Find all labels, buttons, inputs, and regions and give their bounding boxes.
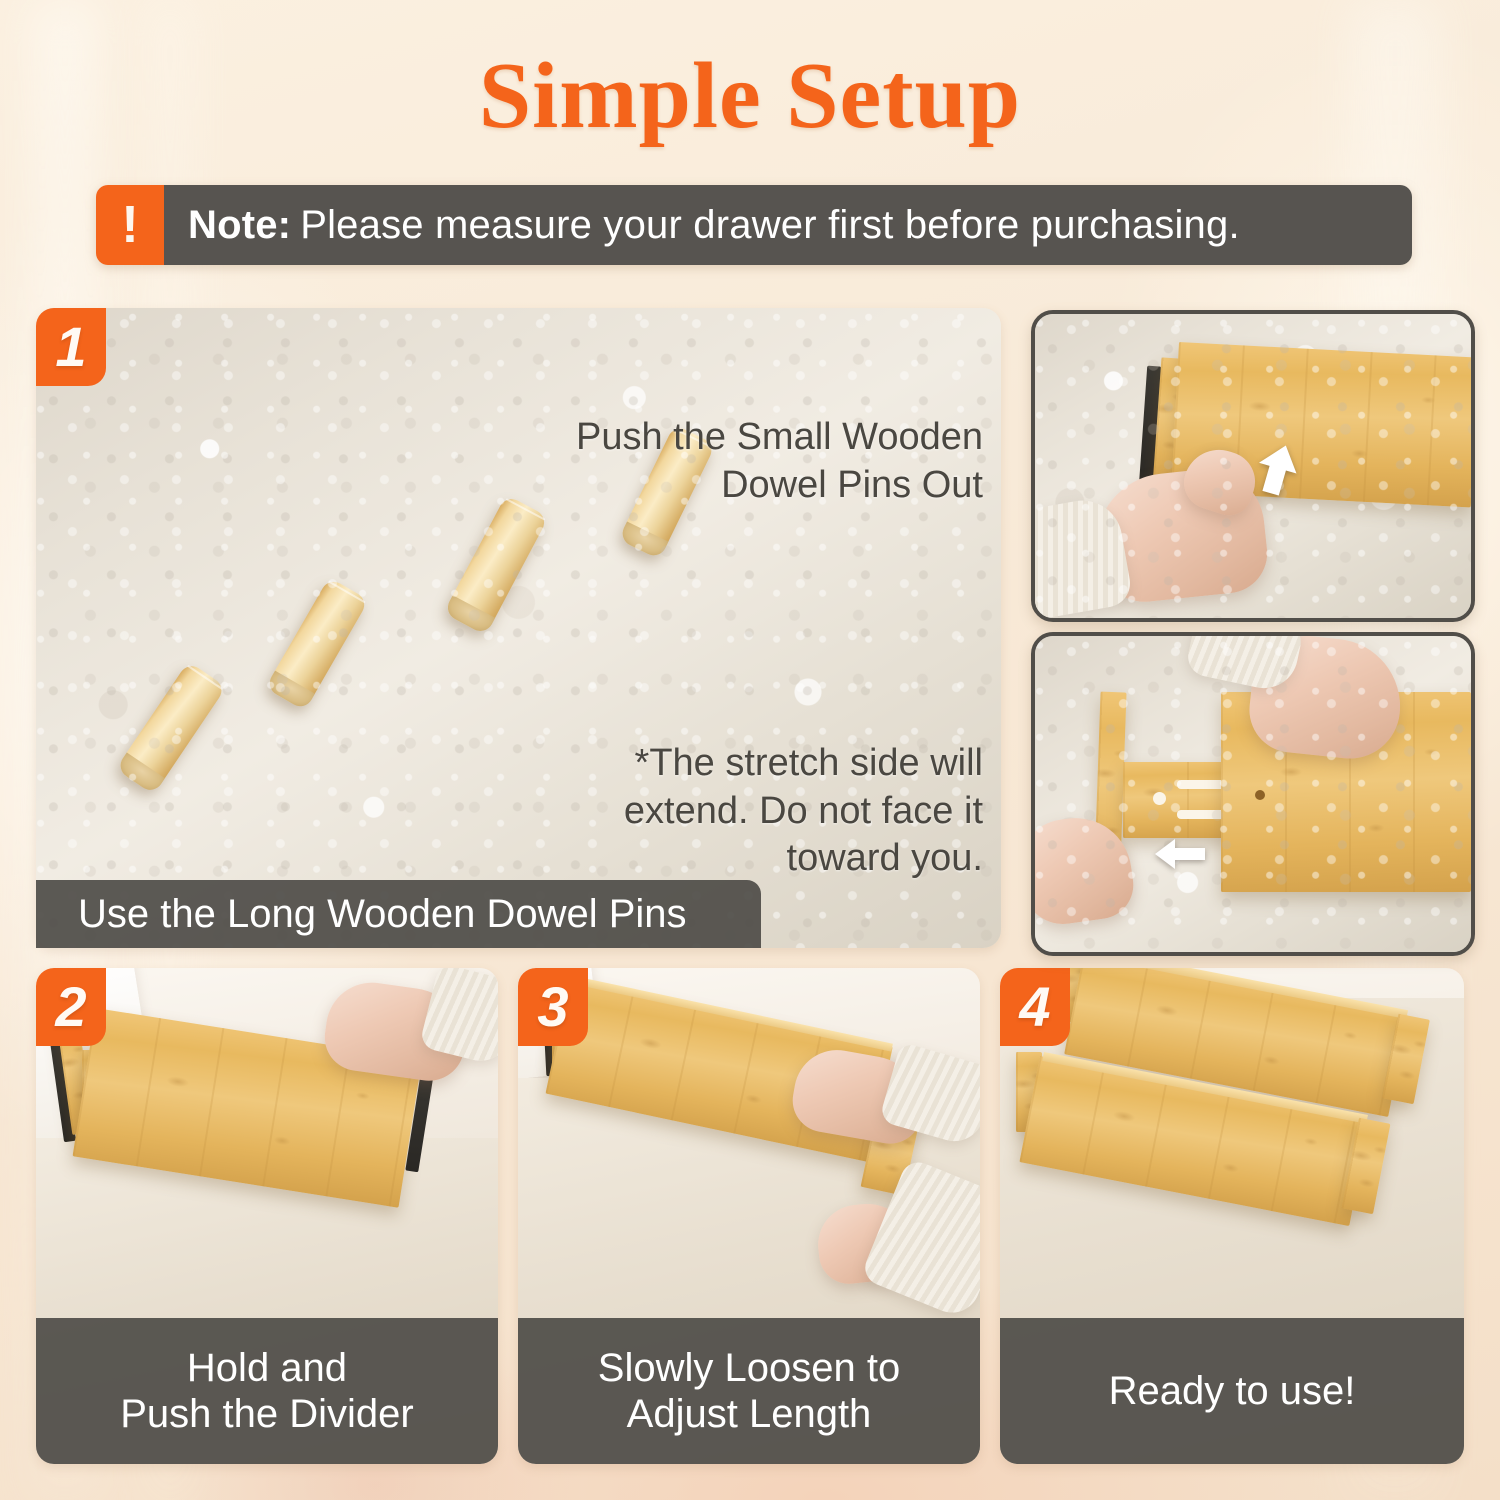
- step-3-panel: 3 Slowly Loosen to Adjust Length: [518, 968, 980, 1464]
- dowel-hole: [1255, 790, 1265, 800]
- hand: [1245, 632, 1407, 764]
- note-banner: ! Note: Please measure your drawer first…: [96, 185, 1412, 265]
- dowel-pin: [265, 577, 369, 711]
- bamboo-divider-board: [1221, 692, 1471, 892]
- divider-side-edge: [1153, 357, 1186, 486]
- step-2-caption: Hold and Push the Divider: [36, 1318, 498, 1464]
- sweater-sleeve: [1031, 494, 1134, 619]
- step-1-annotation-primary: Push the Small Wooden Dowel Pins Out: [563, 414, 983, 509]
- step-2-caption-line1: Hold and: [120, 1345, 413, 1391]
- step-3-caption-line2: Adjust Length: [598, 1391, 900, 1437]
- step-4-caption: Ready to use!: [1000, 1318, 1464, 1464]
- bamboo-divider-board: [1171, 342, 1475, 507]
- dowel-pin: [1211, 454, 1242, 476]
- hand: [1031, 811, 1138, 929]
- step-badge-2: 2: [36, 968, 106, 1046]
- inset-1-photo: [1035, 314, 1471, 618]
- step-badge-1: 1: [36, 308, 106, 386]
- step-4-panel: 4 Ready to use!: [1000, 968, 1464, 1464]
- sweater-sleeve: [1184, 632, 1305, 694]
- rail-slot: [1177, 780, 1225, 789]
- dowel-pin: [116, 661, 227, 794]
- arrow-left-icon: [1153, 836, 1207, 872]
- step-1-annotation-secondary: *The stretch side will extend. Do not fa…: [513, 740, 983, 883]
- step-1-inset-1: [1031, 310, 1475, 622]
- step-3-caption-line1: Slowly Loosen to: [598, 1345, 900, 1391]
- bamboo-divider-end: [1093, 692, 1126, 897]
- step-1-inset-2: [1031, 632, 1475, 956]
- inset-2-photo: [1035, 636, 1471, 952]
- divider-rubber-edge: [1139, 366, 1161, 489]
- step-2-panel: 2 Hold and Push the Divider: [36, 968, 498, 1464]
- step-4-caption-line1: Ready to use!: [1109, 1368, 1356, 1414]
- page-title: Simple Setup: [0, 42, 1500, 150]
- note-banner-text: Note: Please measure your drawer first b…: [164, 185, 1412, 265]
- step-3-caption: Slowly Loosen to Adjust Length: [518, 1318, 980, 1464]
- rail-hole: [1153, 792, 1166, 805]
- bamboo-slotted-rail: [1123, 762, 1233, 838]
- step-badge-4: 4: [1000, 968, 1070, 1046]
- note-label: Note:: [188, 203, 291, 248]
- exclamation-mark-icon: !: [96, 185, 164, 265]
- step-badge-3: 3: [518, 968, 588, 1046]
- step-1-caption: Use the Long Wooden Dowel Pins: [36, 880, 761, 948]
- rail-slot: [1177, 810, 1225, 819]
- note-message: Please measure your drawer first before …: [300, 203, 1240, 248]
- step-1-panel: Push the Small Wooden Dowel Pins Out *Th…: [36, 308, 1001, 948]
- arrow-up-right-icon: [1241, 442, 1301, 500]
- dowel-pin: [443, 495, 548, 636]
- step-2-caption-line2: Push the Divider: [120, 1391, 413, 1437]
